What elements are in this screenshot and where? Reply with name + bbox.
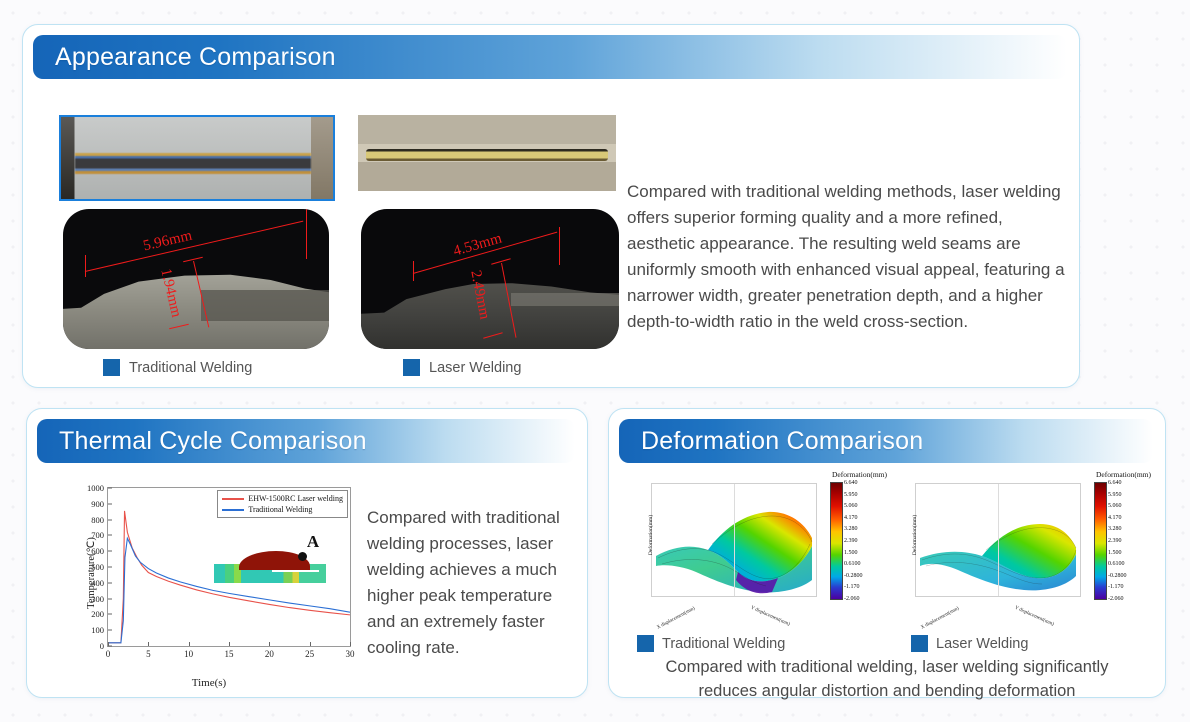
chart-x-tick: 25 [305, 649, 314, 659]
panel-thermal-cycle-comparison: Thermal Cycle Comparison Temperature(℃) … [26, 408, 588, 698]
chart-y-tick: 700 [91, 530, 104, 540]
surface-axes-traditional [651, 483, 817, 597]
panel-title-appearance: Appearance Comparison [33, 43, 336, 72]
surface-plot-traditional: Deformation(mm) X displacement(mm) Y dis… [633, 479, 829, 629]
swatch-icon-laser [403, 359, 420, 376]
legend-item-traditional: Traditional Welding [222, 504, 343, 515]
legend-label-traditional: Traditional Welding [248, 504, 312, 515]
chart-y-tick: 200 [91, 609, 104, 619]
colorbar-tick-label: 5.950 [1108, 492, 1122, 498]
panel-header-deformation: Deformation Comparison [619, 419, 1153, 463]
panel-title-deformation: Deformation Comparison [619, 427, 923, 456]
panel-appearance-comparison: Appearance Comparison 5.96mm [22, 24, 1080, 388]
cross-section-traditional[interactable]: 5.96mm 1.94mm [63, 209, 329, 349]
colorbar-tick-label: -1.170 [844, 584, 860, 590]
caption-label-deform-laser: Laser Welding [936, 636, 1028, 652]
appearance-body: 5.96mm 1.94mm 4.53mm 2.49mm [23, 87, 1079, 387]
colorbar-tick-label: 2.390 [1108, 538, 1122, 544]
chart-y-tickmark [108, 503, 112, 504]
legend-line-laser [222, 498, 244, 500]
cross-section-laser[interactable]: 4.53mm 2.49mm [361, 209, 619, 349]
colorbar-tick-label: -2.060 [844, 596, 860, 602]
chart-x-tick: 0 [106, 649, 111, 659]
colorbar-title-laser: Deformation(mm) [1096, 470, 1151, 479]
surface-x-label-laser: X displacement(mm) [920, 606, 960, 630]
inset-white-line [272, 570, 319, 572]
weld-pool-inset: A [214, 551, 325, 583]
panel-header-thermal: Thermal Cycle Comparison [37, 419, 575, 463]
colorbar-tick-label: 5.060 [844, 503, 858, 509]
chart-x-tick: 10 [184, 649, 193, 659]
panel-header-appearance: Appearance Comparison [33, 35, 1067, 79]
chart-x-axis-title: Time(s) [59, 677, 359, 689]
colorbar-tick-label: 6.640 [844, 480, 858, 486]
chart-y-tickmark [108, 582, 112, 583]
slide-root: Appearance Comparison 5.96mm [0, 0, 1190, 722]
colorbar-laser: 6.6405.9505.0604.1703.2802.3901.5000.610… [1094, 482, 1107, 600]
chart-y-tickmark [108, 488, 112, 489]
chart-y-tick: 100 [91, 625, 104, 635]
panel-deformation-comparison: Deformation Comparison Deformation(mm) 6… [608, 408, 1166, 698]
colorbar-traditional: 6.6405.9505.0604.1703.2802.3901.5000.610… [830, 482, 843, 600]
chart-x-tickmark [189, 642, 190, 646]
weld-bead-photo-laser[interactable] [358, 115, 616, 191]
chart-x-tickmark [108, 642, 109, 646]
chart-legend: EHW-1500RC Laser welding Traditional Wel… [217, 490, 348, 518]
colorbar-tick-label: 0.6100 [1108, 561, 1125, 567]
thermal-plot-area: EHW-1500RC Laser welding Traditional Wel… [107, 487, 351, 647]
chart-y-tickmark [108, 535, 112, 536]
swatch-icon-deform-laser [911, 635, 928, 652]
caption-laser-welding: Laser Welding [403, 359, 521, 376]
surface-x-label-traditional: X displacement(mm) [656, 606, 696, 630]
thermal-cycle-chart[interactable]: Temperature(℃) Time(s) EHW-1500RC Laser … [59, 473, 359, 691]
thermal-description: Compared with traditional welding proces… [367, 505, 579, 661]
colorbar-tick-label: 3.280 [1108, 526, 1122, 532]
colorbar-title-traditional: Deformation(mm) [832, 470, 887, 479]
caption-deformation-laser: Laser Welding [911, 635, 1028, 652]
chart-y-tickmark [108, 567, 112, 568]
surface-z-label-laser: Deformation(mm) [912, 515, 918, 555]
colorbar-tick-label: 4.170 [844, 515, 858, 521]
legend-line-traditional [222, 509, 244, 511]
colorbar-tick-label: 6.640 [1108, 480, 1122, 486]
surface-plot-laser: Deformation(mm) X displacement(mm) Y dis… [897, 479, 1093, 629]
colorbar-tick-label: 1.500 [1108, 550, 1122, 556]
deformation-note: Compared with traditional welding, laser… [609, 655, 1165, 703]
chart-x-tick: 30 [346, 649, 355, 659]
chart-y-tick: 400 [91, 578, 104, 588]
chart-y-tick: 300 [91, 594, 104, 604]
chart-x-tick: 15 [225, 649, 234, 659]
surface-mesh-laser [916, 484, 1080, 596]
legend-label-laser: EHW-1500RC Laser welding [248, 493, 343, 504]
dimension-laser-width: 4.53mm [452, 230, 504, 260]
caption-label-laser: Laser Welding [429, 360, 521, 376]
surface-y-label-traditional: Y displacement(mm) [750, 606, 791, 628]
surface-mesh-traditional [652, 484, 816, 596]
surface-z-label-traditional: Deformation(mm) [648, 515, 654, 555]
deformation-chart-laser[interactable]: Deformation(mm) 6.6405.9505.0604.1703.28… [891, 469, 1153, 635]
weld-bead-photo-traditional[interactable] [59, 115, 335, 201]
swatch-icon-traditional [103, 359, 120, 376]
surface-y-label-laser: Y displacement(mm) [1014, 606, 1055, 628]
chart-y-tick: 900 [91, 499, 104, 509]
chart-x-tickmark [229, 642, 230, 646]
colorbar-tick-label: 1.500 [844, 550, 858, 556]
chart-y-tickmark [108, 614, 112, 615]
chart-x-tickmark [148, 642, 149, 646]
chart-y-tick: 1000 [87, 483, 104, 493]
surface-axes-laser [915, 483, 1081, 597]
chart-y-tickmark [108, 598, 112, 599]
colorbar-tick-label: 4.170 [1108, 515, 1122, 521]
colorbar-tick-label: -1.170 [1108, 584, 1124, 590]
panel-title-thermal: Thermal Cycle Comparison [37, 427, 367, 456]
chart-x-tickmark [310, 642, 311, 646]
inset-point-label: A [307, 532, 319, 552]
colorbar-tick-label: -2.060 [1108, 596, 1124, 602]
legend-item-laser: EHW-1500RC Laser welding [222, 493, 343, 504]
chart-y-tick: 800 [91, 515, 104, 525]
caption-traditional-welding: Traditional Welding [103, 359, 252, 376]
caption-label-traditional: Traditional Welding [129, 360, 252, 376]
colorbar-tick-label: 0.6100 [844, 561, 861, 567]
chart-y-tick: 0 [100, 641, 104, 651]
colorbar-tick-label: -0.2800 [1108, 573, 1127, 579]
colorbar-tick-label: -0.2800 [844, 573, 863, 579]
chart-x-tickmark [269, 642, 270, 646]
caption-deformation-traditional: Traditional Welding [637, 635, 785, 652]
colorbar-tick-label: 5.950 [844, 492, 858, 498]
swatch-icon-deform-traditional [637, 635, 654, 652]
colorbar-tick-label: 2.390 [844, 538, 858, 544]
colorbar-tick-label: 3.280 [844, 526, 858, 532]
chart-y-tick: 500 [91, 562, 104, 572]
chart-x-tick: 5 [146, 649, 151, 659]
appearance-description: Compared with traditional welding method… [627, 179, 1065, 335]
colorbar-tick-label: 5.060 [1108, 503, 1122, 509]
deformation-chart-traditional[interactable]: Deformation(mm) 6.6405.9505.0604.1703.28… [627, 469, 889, 635]
caption-label-deform-traditional: Traditional Welding [662, 636, 785, 652]
chart-y-tickmark [108, 551, 112, 552]
chart-x-tickmark [350, 642, 351, 646]
chart-y-tick: 600 [91, 546, 104, 556]
chart-y-tickmark [108, 630, 112, 631]
chart-y-tickmark [108, 519, 112, 520]
chart-x-tick: 20 [265, 649, 274, 659]
